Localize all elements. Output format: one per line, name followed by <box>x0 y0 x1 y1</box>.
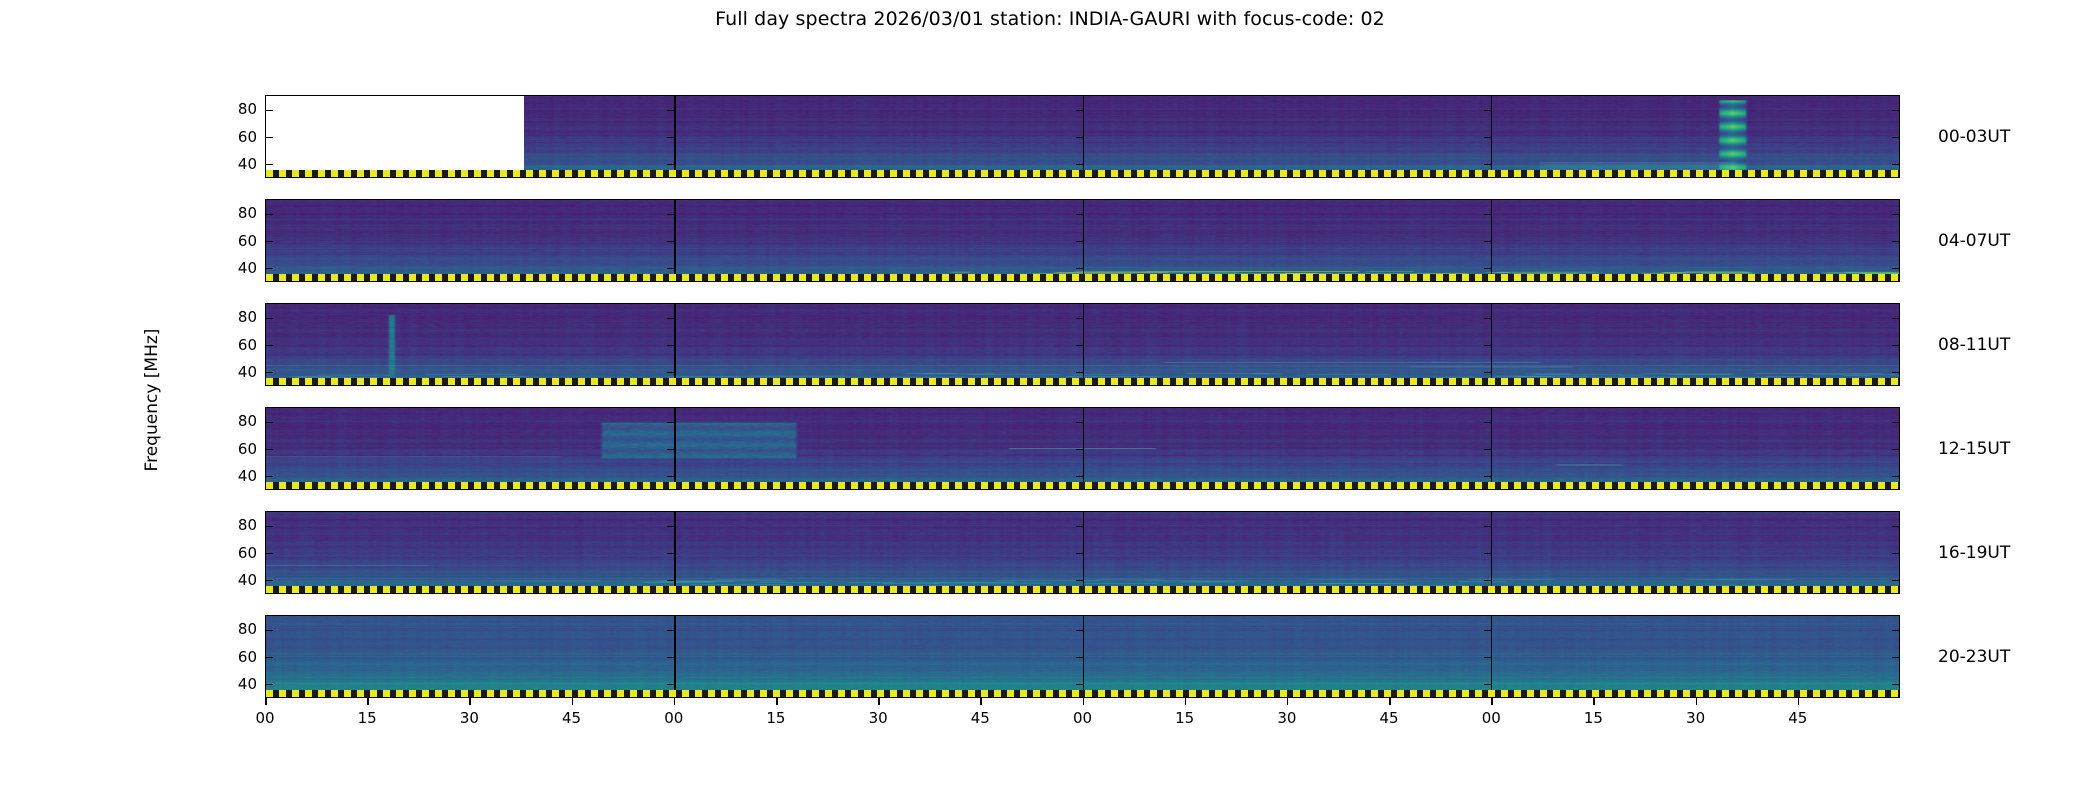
y-tick-mark <box>1076 553 1083 555</box>
y-tick-mark <box>1892 372 1899 374</box>
x-tick-mark <box>1593 698 1595 705</box>
x-tick-mark <box>367 698 369 705</box>
y-tick-mark <box>266 164 273 166</box>
spectrogram-panel-16-19ut <box>265 511 1900 594</box>
x-tick-label: 15 <box>1175 709 1194 727</box>
hour-block-gridline <box>1083 96 1085 177</box>
y-tick-label: 60 <box>219 336 257 354</box>
spectrogram-panel-20-23ut <box>265 615 1900 698</box>
y-tick-label: 40 <box>219 259 257 277</box>
hour-block-gridline <box>1491 96 1493 177</box>
spectrogram-figure: Full day spectra 2026/03/01 station: IND… <box>0 0 2100 800</box>
y-tick-mark <box>1484 372 1491 374</box>
x-tick-mark <box>1083 698 1085 705</box>
x-tick-label: 00 <box>255 709 274 727</box>
data-quality-dashed-line <box>266 274 1899 281</box>
y-tick-mark <box>1076 164 1083 166</box>
y-tick-label: 80 <box>219 100 257 118</box>
x-tick-mark <box>469 698 471 705</box>
x-tick-label: 15 <box>1584 709 1603 727</box>
y-tick-mark <box>266 684 273 686</box>
y-tick-mark <box>1076 214 1083 216</box>
y-tick-mark <box>1484 268 1491 270</box>
y-tick-mark <box>667 268 674 270</box>
y-tick-label: 40 <box>219 155 257 173</box>
x-tick-label: 00 <box>1073 709 1092 727</box>
y-tick-mark <box>667 164 674 166</box>
y-tick-mark <box>1076 137 1083 139</box>
y-tick-mark <box>1484 214 1491 216</box>
y-tick-mark <box>1076 526 1083 528</box>
y-tick-mark <box>1076 241 1083 243</box>
y-tick-mark <box>667 318 674 320</box>
y-tick-label: 60 <box>219 440 257 458</box>
y-tick-mark <box>266 449 273 451</box>
hour-block-gridline <box>674 304 676 385</box>
y-tick-mark <box>1892 137 1899 139</box>
y-tick-mark <box>1484 164 1491 166</box>
hour-block-gridline <box>1083 408 1085 489</box>
y-tick-label: 60 <box>219 232 257 250</box>
y-tick-mark <box>266 476 273 478</box>
x-tick-mark <box>1696 698 1698 705</box>
x-tick-label: 30 <box>1277 709 1296 727</box>
y-tick-mark <box>266 241 273 243</box>
y-tick-mark <box>1076 476 1083 478</box>
x-tick-mark <box>265 698 267 705</box>
y-tick-mark <box>1076 449 1083 451</box>
hour-block-gridline <box>1083 512 1085 593</box>
y-tick-mark <box>667 684 674 686</box>
x-tick-mark <box>1287 698 1289 705</box>
y-tick-mark <box>667 345 674 347</box>
y-tick-mark <box>266 268 273 270</box>
hour-block-gridline <box>674 96 676 177</box>
hour-block-gridline <box>674 200 676 281</box>
y-tick-mark <box>266 110 273 112</box>
y-tick-mark <box>1076 318 1083 320</box>
y-tick-label: 60 <box>219 648 257 666</box>
y-tick-mark <box>667 580 674 582</box>
y-tick-mark <box>1892 422 1899 424</box>
y-tick-mark <box>1484 553 1491 555</box>
y-tick-mark <box>667 422 674 424</box>
x-tick-label: 00 <box>664 709 683 727</box>
page-title: Full day spectra 2026/03/01 station: IND… <box>0 8 2100 30</box>
hour-block-gridline <box>1491 304 1493 385</box>
y-tick-mark <box>1484 657 1491 659</box>
hour-block-gridline <box>674 616 676 697</box>
y-tick-mark <box>667 241 674 243</box>
spectrogram-panel-00-03ut <box>265 95 1900 178</box>
y-tick-mark <box>1484 580 1491 582</box>
y-tick-label: 40 <box>219 467 257 485</box>
y-tick-mark <box>1892 318 1899 320</box>
y-tick-mark <box>1484 422 1491 424</box>
panel-time-range-label: 04-07UT <box>1938 231 2010 251</box>
y-tick-mark <box>667 657 674 659</box>
x-tick-label: 30 <box>1686 709 1705 727</box>
x-tick-mark <box>878 698 880 705</box>
hour-block-gridline <box>1083 200 1085 281</box>
x-tick-label: 45 <box>562 709 581 727</box>
y-tick-mark <box>1484 318 1491 320</box>
x-tick-mark <box>980 698 982 705</box>
y-tick-mark <box>1892 657 1899 659</box>
y-tick-mark <box>1076 580 1083 582</box>
y-tick-label: 40 <box>219 675 257 693</box>
y-tick-mark <box>1892 241 1899 243</box>
x-tick-mark <box>776 698 778 705</box>
y-tick-mark <box>667 372 674 374</box>
x-tick-label: 15 <box>358 709 377 727</box>
y-tick-mark <box>667 526 674 528</box>
x-tick-label: 30 <box>460 709 479 727</box>
y-tick-mark <box>1484 449 1491 451</box>
y-tick-mark <box>1892 164 1899 166</box>
data-quality-dashed-line <box>266 482 1899 489</box>
panel-time-range-label: 20-23UT <box>1938 647 2010 667</box>
y-tick-mark <box>1484 345 1491 347</box>
hour-block-gridline <box>1491 408 1493 489</box>
panel-time-range-label: 16-19UT <box>1938 543 2010 563</box>
y-tick-mark <box>1892 268 1899 270</box>
y-tick-mark <box>266 526 273 528</box>
y-tick-mark <box>1076 657 1083 659</box>
y-tick-mark <box>1484 241 1491 243</box>
y-tick-mark <box>1484 630 1491 632</box>
panel-time-range-label: 08-11UT <box>1938 335 2010 355</box>
y-tick-mark <box>1076 684 1083 686</box>
x-tick-mark <box>1798 698 1800 705</box>
y-tick-mark <box>667 214 674 216</box>
x-tick-mark <box>1185 698 1187 705</box>
y-tick-mark <box>1892 526 1899 528</box>
y-tick-mark <box>1076 110 1083 112</box>
y-tick-mark <box>667 630 674 632</box>
hour-block-gridline <box>1491 616 1493 697</box>
x-tick-label: 30 <box>869 709 888 727</box>
x-tick-label: 45 <box>1788 709 1807 727</box>
y-tick-mark <box>1484 684 1491 686</box>
panel-time-range-label: 12-15UT <box>1938 439 2010 459</box>
y-tick-mark <box>1076 422 1083 424</box>
hour-block-gridline <box>1083 304 1085 385</box>
y-tick-mark <box>1892 110 1899 112</box>
hour-block-gridline <box>1491 512 1493 593</box>
y-tick-mark <box>266 318 273 320</box>
y-tick-mark <box>1892 345 1899 347</box>
x-tick-mark <box>1389 698 1391 705</box>
y-tick-mark <box>1484 526 1491 528</box>
y-tick-mark <box>667 476 674 478</box>
y-tick-label: 60 <box>219 544 257 562</box>
y-tick-mark <box>266 657 273 659</box>
y-tick-mark <box>266 580 273 582</box>
y-tick-mark <box>1892 449 1899 451</box>
x-tick-mark <box>674 698 676 705</box>
y-tick-mark <box>266 422 273 424</box>
hour-block-gridline <box>674 512 676 593</box>
y-tick-mark <box>1892 684 1899 686</box>
spectrogram-panel-08-11ut <box>265 303 1900 386</box>
x-tick-mark <box>572 698 574 705</box>
y-tick-mark <box>266 630 273 632</box>
x-tick-label: 15 <box>766 709 785 727</box>
y-tick-mark <box>667 137 674 139</box>
y-tick-mark <box>667 110 674 112</box>
y-tick-mark <box>1484 137 1491 139</box>
y-tick-label: 40 <box>219 571 257 589</box>
data-quality-dashed-line <box>266 170 1899 177</box>
y-tick-mark <box>667 449 674 451</box>
y-tick-mark <box>1892 580 1899 582</box>
hour-block-gridline <box>1491 200 1493 281</box>
y-tick-mark <box>1076 372 1083 374</box>
x-tick-label: 45 <box>971 709 990 727</box>
y-tick-mark <box>1484 476 1491 478</box>
x-tick-label: 45 <box>1380 709 1399 727</box>
spectrogram-panel-04-07ut <box>265 199 1900 282</box>
y-tick-label: 80 <box>219 412 257 430</box>
y-tick-mark <box>1892 214 1899 216</box>
hour-block-gridline <box>1083 616 1085 697</box>
x-tick-mark <box>1491 698 1493 705</box>
spectrogram-panel-12-15ut <box>265 407 1900 490</box>
hour-block-gridline <box>674 408 676 489</box>
y-tick-mark <box>266 553 273 555</box>
x-tick-label: 00 <box>1482 709 1501 727</box>
y-axis-title: Frequency [MHz] <box>142 329 162 472</box>
y-tick-mark <box>266 372 273 374</box>
panel-time-range-label: 00-03UT <box>1938 127 2010 147</box>
y-tick-mark <box>1892 476 1899 478</box>
y-tick-mark <box>1892 630 1899 632</box>
data-quality-dashed-line <box>266 378 1899 385</box>
y-tick-mark <box>1484 110 1491 112</box>
y-tick-mark <box>266 137 273 139</box>
y-tick-mark <box>1076 345 1083 347</box>
data-quality-dashed-line <box>266 690 1899 697</box>
y-tick-label: 40 <box>219 363 257 381</box>
y-tick-label: 80 <box>219 308 257 326</box>
no-data-region <box>266 96 524 177</box>
y-tick-mark <box>1076 268 1083 270</box>
y-tick-label: 60 <box>219 128 257 146</box>
y-tick-mark <box>667 553 674 555</box>
y-tick-mark <box>1076 630 1083 632</box>
y-tick-label: 80 <box>219 516 257 534</box>
y-tick-mark <box>266 345 273 347</box>
y-tick-mark <box>1892 553 1899 555</box>
y-tick-label: 80 <box>219 620 257 638</box>
data-quality-dashed-line <box>266 586 1899 593</box>
y-tick-label: 80 <box>219 204 257 222</box>
y-tick-mark <box>266 214 273 216</box>
